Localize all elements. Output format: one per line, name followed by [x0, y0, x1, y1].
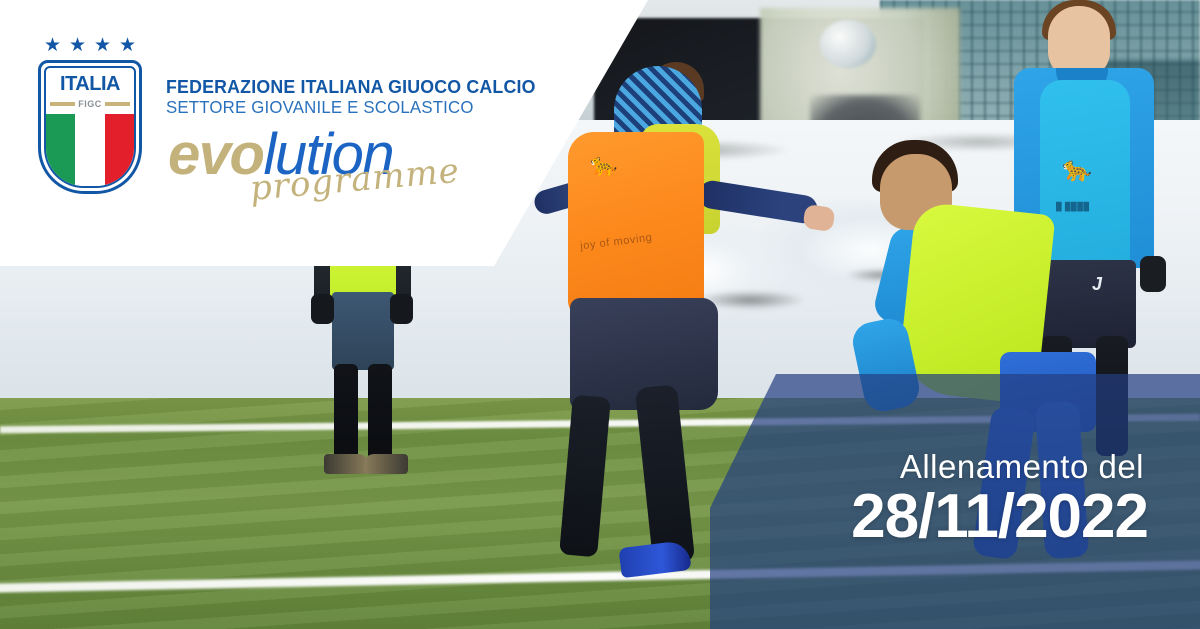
star-icon: ★: [119, 36, 136, 56]
player-left-leg-left: [334, 364, 358, 462]
crest-title: ITALIA: [46, 73, 134, 96]
player-left-boot-left: [324, 454, 368, 474]
player-center-leg-front: [635, 384, 695, 565]
banner-photo-ball: [820, 20, 876, 68]
crest-gold-bar-right: [105, 102, 130, 106]
player-left-shorts: [332, 292, 394, 370]
player-left-glove-right: [390, 294, 413, 324]
crest-tricolor: [46, 114, 134, 186]
star-icon: ★: [94, 36, 111, 56]
player-center-bib: [568, 132, 704, 317]
crest-subtitle: FIGC: [78, 99, 102, 109]
player-center-hand: [802, 204, 835, 232]
figc-crest: ★ ★ ★ ★ ITALIA FIGC: [38, 36, 142, 194]
tricolor-red: [105, 114, 134, 186]
player-center-leg-back: [559, 395, 611, 558]
star-icon: ★: [44, 36, 61, 56]
crest-stars: ★ ★ ★ ★: [44, 36, 136, 56]
player-left: [300, 236, 430, 506]
puma-logo-icon: 🐆: [590, 154, 626, 176]
crest-shield-inner: ITALIA FIGC: [44, 66, 136, 188]
tricolor-green: [46, 114, 75, 186]
tricolor-white: [75, 114, 104, 186]
player-right-glove: [1140, 256, 1166, 292]
star-icon: ★: [69, 36, 86, 56]
player-left-leg-right: [368, 364, 392, 462]
crest-gold-bar-left: [50, 102, 75, 106]
crest-shield: ITALIA FIGC: [38, 60, 142, 194]
player-left-glove-left: [311, 294, 334, 324]
session-label: Allenamento del: [900, 448, 1144, 486]
crest-subtitle-row: FIGC: [50, 98, 130, 109]
federation-department: SETTORE GIOVANILE E SCOLASTICO: [166, 97, 474, 118]
session-date: 28/11/2022: [851, 486, 1148, 548]
player-center-boot: [618, 540, 691, 578]
player-left-boot-right: [364, 454, 408, 474]
training-session-banner: olution programme COMPETENZE TERRITORIAL…: [0, 0, 1200, 629]
date-overlay-panel: Allenamento del 28/11/2022: [690, 374, 1200, 629]
federation-name: FEDERAZIONE ITALIANA GIUOCO CALCIO: [166, 76, 536, 98]
